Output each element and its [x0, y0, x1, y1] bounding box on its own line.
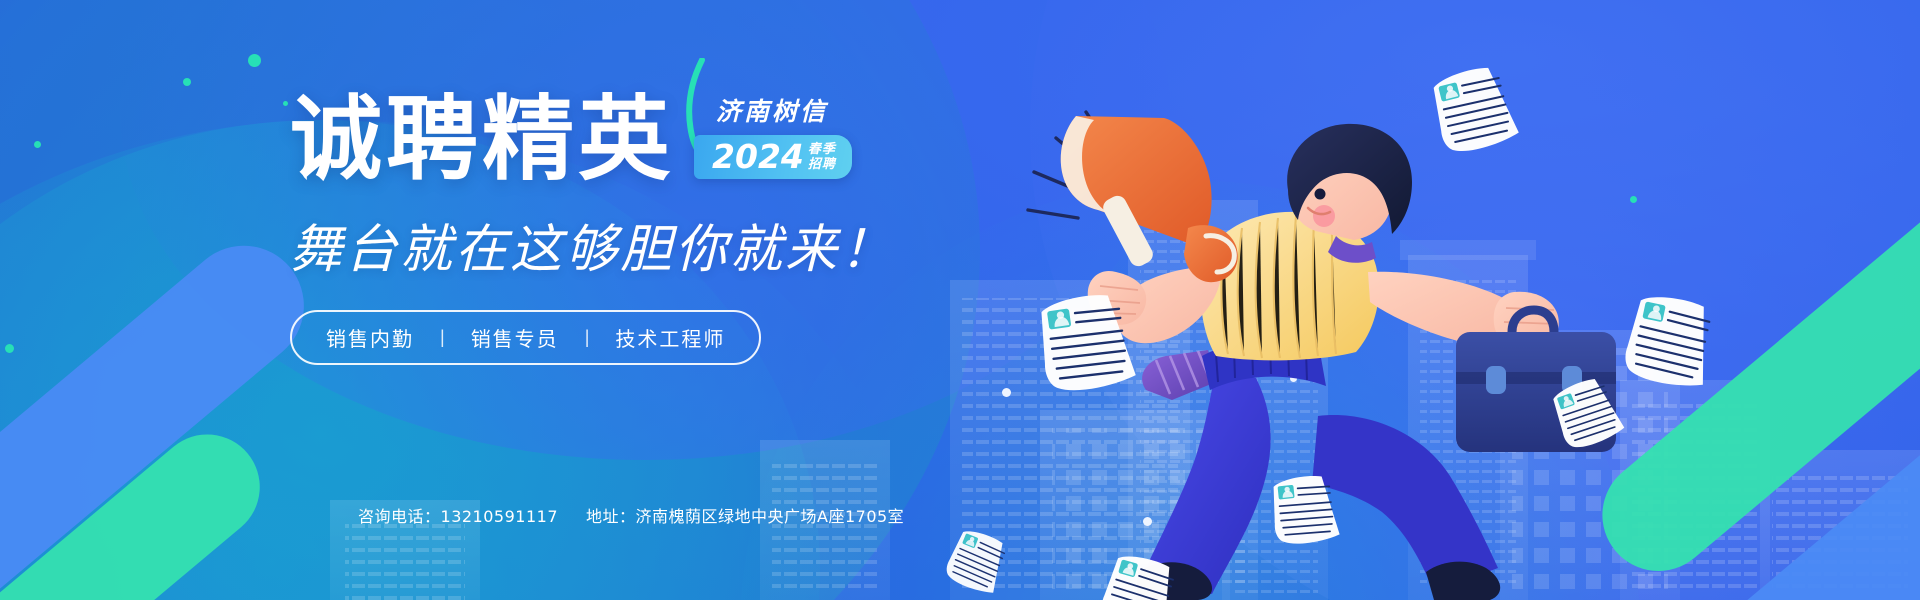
- badge-year: 2024: [712, 140, 804, 173]
- badge-pill: 2024 春季 招聘: [694, 135, 852, 179]
- job-item-technical-engineer[interactable]: 技术工程师: [615, 323, 725, 352]
- eye: [1315, 189, 1326, 200]
- leg-front: [1140, 372, 1271, 594]
- decor-dot-2: [183, 78, 191, 86]
- resume-paper-7: [942, 526, 1012, 597]
- headline-row: 诚聘精英 济南树信 2024 春季 招聘: [290, 92, 990, 185]
- hero-illustration: [1020, 60, 1660, 600]
- decor-dot-5: [5, 344, 14, 353]
- badge-season-line2: 招聘: [808, 157, 836, 171]
- hand-left: [1088, 271, 1146, 325]
- address-value: 济南槐荫区绿地中央广场A座1705室: [636, 507, 905, 526]
- contact-info: 咨询电话：13210591117 地址：济南槐荫区绿地中央广场A座1705室: [358, 503, 904, 527]
- decor-dot-4: [34, 141, 41, 148]
- decor-bar-left-teal: [0, 413, 281, 600]
- decor-bar-left-blue: [0, 221, 328, 600]
- address-group: 地址：济南槐荫区绿地中央广场A座1705室: [586, 503, 904, 527]
- megaphone-icon: [1061, 116, 1238, 282]
- company-name: 济南树信: [694, 92, 852, 128]
- phone-value[interactable]: 13210591117: [441, 507, 558, 526]
- badge-season-line1: 春季: [808, 142, 836, 156]
- job-item-sales-specialist[interactable]: 销售专员: [471, 323, 559, 352]
- address-label: 地址：: [586, 507, 636, 526]
- decor-dot-6: [1002, 388, 1011, 397]
- campaign-badge: 济南树信 2024 春季 招聘: [694, 92, 852, 185]
- recruitment-banner: 诚聘精英 济南树信 2024 春季 招聘 舞台就在这够胆你就来！ 销售内勤 |: [0, 0, 1920, 600]
- subheadline: 舞台就在这够胆你就来！: [290, 207, 990, 282]
- badge-season: 春季 招聘: [808, 142, 836, 170]
- cheek: [1313, 205, 1335, 227]
- phone-label: 咨询电话：: [358, 507, 441, 526]
- copy-block: 诚聘精英 济南树信 2024 春季 招聘 舞台就在这够胆你就来！ 销售内勤 |: [290, 92, 990, 365]
- decor-dot-3: [283, 101, 288, 106]
- page-title: 诚聘精英: [290, 95, 674, 185]
- job-separator-1: |: [440, 327, 445, 348]
- job-item-sales-support[interactable]: 销售内勤: [326, 323, 414, 352]
- phone-group: 咨询电话：13210591117: [358, 503, 558, 527]
- job-positions-pill: 销售内勤 | 销售专员 | 技术工程师: [290, 310, 761, 365]
- decor-dot-1: [248, 54, 261, 67]
- job-separator-2: |: [585, 327, 590, 348]
